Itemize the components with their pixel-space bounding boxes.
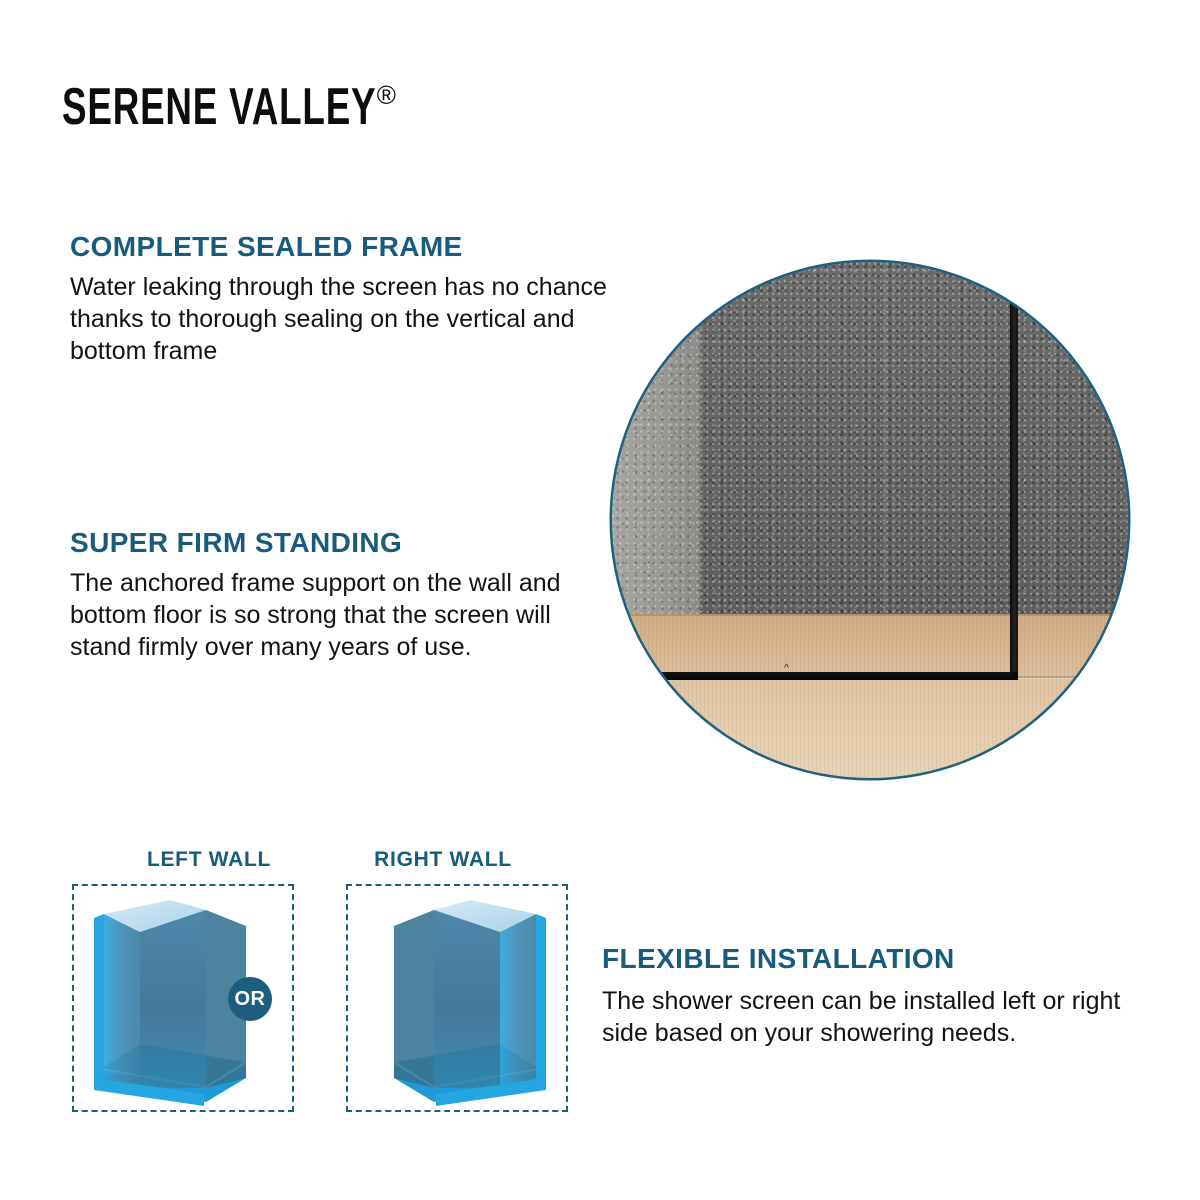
feature-block-firm-standing: SUPER FIRM STANDING The anchored frame s… <box>70 528 610 663</box>
feature-heading-flexible-installation: FLEXIBLE INSTALLATION <box>602 944 1158 975</box>
enclosure-screen-panel <box>394 910 434 1088</box>
tile-grout-line <box>700 504 1128 506</box>
shower-floor-shading <box>612 614 1128 676</box>
installation-diagram-area: LEFT WALL RIGHT WALL <box>68 848 578 1120</box>
product-photo-scene: ^ <box>612 262 1128 778</box>
vertical-frame-profile <box>1010 262 1018 680</box>
diagram-label-right-wall: RIGHT WALL <box>350 848 536 872</box>
feature-body-sealed-frame: Water leaking through the screen has no … <box>70 271 610 367</box>
tile-grout-line <box>700 360 1128 362</box>
feature-body-firm-standing: The anchored frame support on the wall a… <box>70 567 610 663</box>
enclosure-right-post <box>536 914 546 1082</box>
diagram-label-left-wall: LEFT WALL <box>116 848 302 872</box>
shower-enclosure-diagram-right <box>352 892 562 1106</box>
enclosure-side-panel <box>104 914 140 1088</box>
tile-grout-line <box>884 262 886 614</box>
brand-name: SERENE VALLEY <box>62 76 376 136</box>
infographic-page: SERENE VALLEY® COMPLETE SEALED FRAME Wat… <box>0 0 1200 1200</box>
registered-trademark-icon: ® <box>377 80 397 111</box>
product-photo-circle: ^ <box>612 262 1128 778</box>
enclosure-side-panel <box>500 914 536 1088</box>
frame-anchor-marker: ^ <box>782 665 791 673</box>
feature-block-flexible-installation: FLEXIBLE INSTALLATION The shower screen … <box>602 944 1158 1049</box>
stone-tile-wall <box>700 262 1128 614</box>
feature-block-sealed-frame: COMPLETE SEALED FRAME Water leaking thro… <box>70 232 610 367</box>
brand-logo: SERENE VALLEY® <box>62 76 393 136</box>
or-divider-badge: OR <box>228 977 272 1021</box>
feature-heading-sealed-frame: COMPLETE SEALED FRAME <box>70 232 610 263</box>
tile-grout-line <box>1050 262 1052 614</box>
feature-body-flexible-installation: The shower screen can be installed left … <box>602 985 1158 1049</box>
side-wall-surface <box>612 262 700 614</box>
frame-corner-joint <box>1010 672 1018 680</box>
enclosure-back-panel <box>434 910 500 1088</box>
enclosure-back-panel <box>140 910 206 1088</box>
bottom-frame-seal <box>612 672 1018 680</box>
feature-heading-firm-standing: SUPER FIRM STANDING <box>70 528 610 559</box>
enclosure-right-icon <box>352 892 562 1106</box>
enclosure-left-post <box>94 914 104 1082</box>
